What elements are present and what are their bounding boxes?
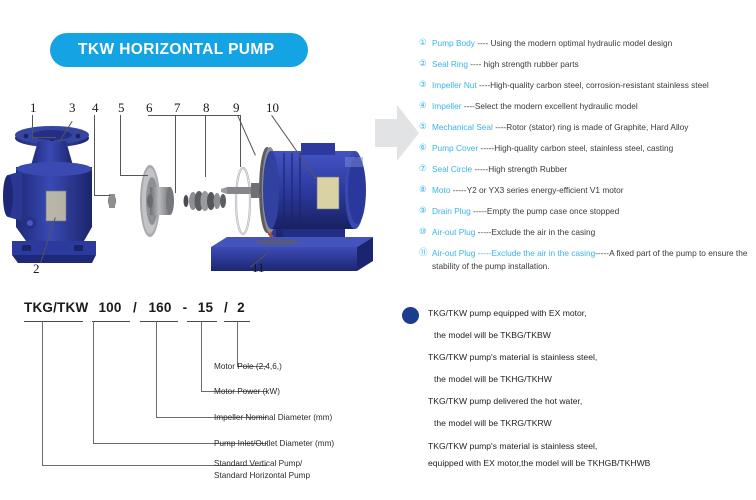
legend-part-desc: -----High-quality carbon steel, stainles…	[478, 143, 673, 153]
code-segment-series: TKG/TKW	[24, 300, 92, 315]
legend-number: ②	[419, 54, 432, 75]
legend-part-name: Moto	[432, 185, 450, 195]
pump-spec-sheet: TKW HORIZONTAL PUMP	[0, 0, 756, 500]
legend-part-name: Seal Ring	[432, 59, 468, 69]
legend-number: ④	[419, 96, 432, 117]
legend-number: ③	[419, 75, 432, 96]
page-title-banner: TKW HORIZONTAL PUMP	[50, 33, 308, 67]
note-line: TKG/TKW pump's material is stainless ste…	[400, 434, 756, 453]
callout-number-6: 6	[146, 100, 153, 116]
legend-part-name: Seal Circle	[432, 164, 472, 174]
naming-label-standard-vertical: Standard Vertical Pump/	[214, 458, 302, 470]
note-line: the model will be TKBG/TKBW	[400, 324, 756, 346]
code-segment-power: 15	[192, 300, 219, 315]
legend-item: ⑤ Mechanical Seal ----Rotor (stator) rin…	[419, 117, 754, 138]
callout-number-10: 10	[266, 100, 279, 116]
legend-part-name: Mechanical Seal	[432, 122, 493, 132]
callout-number-8: 8	[203, 100, 210, 116]
naming-label-standard-horizontal: Standard Horizontal Pump	[214, 470, 310, 482]
naming-leader-impeller-v	[156, 321, 157, 417]
code-separator-3: /	[219, 300, 233, 315]
callout-number-2: 2	[33, 261, 40, 277]
leader-line-7	[205, 115, 206, 177]
naming-label-motor-power: Motor Power (kW)	[214, 386, 280, 398]
code-underline-series	[24, 321, 83, 322]
callout-number-9: 9	[233, 100, 240, 116]
legend-number: ⑩	[419, 222, 432, 243]
page-title: TKW HORIZONTAL PUMP	[50, 41, 274, 59]
legend-item: ⑦ Seal Circle -----High strength Rubber	[419, 159, 754, 180]
code-segment-inlet: 100	[92, 300, 128, 315]
naming-leader-standard-v	[42, 321, 43, 465]
naming-leader-inlet-v	[93, 321, 94, 443]
legend-part-name: Air-out Plug -----Exclude the air in the…	[432, 248, 595, 258]
legend-item: ④ Impeller ----Select the modern excelle…	[419, 96, 754, 117]
note-line: TKG/TKW pump equipped with EX motor,	[400, 302, 756, 324]
code-segment-impeller: 160	[142, 300, 178, 315]
leader-line-5	[120, 115, 121, 175]
legend-number: ⑥	[419, 138, 432, 159]
leader-line-1	[32, 115, 33, 137]
note-line: equipped with EX motor,the model will be…	[400, 453, 756, 470]
legend-part-desc: ---- Using the modern optimal hydraulic …	[475, 38, 672, 48]
callout-number-1: 1	[30, 100, 37, 116]
code-segment-pole: 2	[233, 300, 249, 315]
code-underline-inlet	[92, 321, 130, 322]
model-variant-notes: TKG/TKW pump equipped with EX motor, the…	[400, 302, 756, 470]
arrow-right-icon	[375, 103, 419, 163]
exploded-pump-diagram: 1 3 4 5 6 7 8 9 10 2	[0, 95, 400, 290]
legend-item: ③ Impeller Nut ----High-quality carbon s…	[419, 75, 754, 96]
legend-item: ⑩ Air-out Plug -----Exclude the air in t…	[419, 222, 754, 243]
legend-number: ⑦	[419, 159, 432, 180]
code-separator-1: /	[128, 300, 142, 315]
legend-number: ①	[419, 33, 432, 54]
model-naming-diagram: TKG/TKW100/160-15/2 Motor Pole (2,4,6,) …	[0, 295, 400, 500]
legend-part-desc: ----Select the modern excellent hydrauli…	[462, 101, 638, 111]
legend-part-name: Air-out Plug	[432, 227, 475, 237]
legend-part-name: Impeller Nut	[432, 80, 477, 90]
legend-item: ⑧ Moto -----Y2 or YX3 series energy-effi…	[419, 180, 754, 201]
legend-part-name: Pump Body	[432, 38, 475, 48]
naming-label-inlet-diameter: Pump Inlet/Outlet Diameter (mm)	[214, 438, 334, 450]
legend-part-desc: -----Empty the pump case once stopped	[471, 206, 620, 216]
parts-legend: ① Pump Body ---- Using the modern optima…	[419, 33, 754, 279]
code-underline-impeller	[140, 321, 178, 322]
legend-number: ⑪	[419, 247, 432, 260]
leader-line-1b	[32, 137, 56, 138]
legend-item: ⑪ Air-out Plug -----Exclude the air in t…	[419, 243, 754, 279]
code-underline-power	[187, 321, 217, 322]
legend-part-desc: ----Rotor (stator) ring is made of Graph…	[493, 122, 689, 132]
legend-item: ② Seal Ring ---- high strength rubber pa…	[419, 54, 754, 75]
legend-number: ⑨	[419, 201, 432, 222]
callout-number-7: 7	[174, 100, 181, 116]
leader-line-5b	[120, 175, 148, 176]
legend-number: ⑤	[419, 117, 432, 138]
leader-line-6b	[148, 115, 175, 116]
motor-artwork	[205, 95, 395, 290]
naming-leader-pole-v	[237, 321, 238, 366]
leader-line-6	[175, 115, 176, 193]
note-line: TKG/TKW pump's material is stainless ste…	[400, 346, 756, 368]
naming-label-impeller-diameter: Impeller Nominal Diameter (mm)	[214, 412, 332, 424]
leader-line-4b	[94, 195, 110, 196]
callout-number-3: 3	[69, 100, 76, 116]
legend-part-desc: ----High-quality carbon steel, corrosion…	[477, 80, 709, 90]
leader-line-4	[94, 115, 95, 195]
flow-arrow	[375, 103, 419, 168]
bullet-icon	[402, 307, 419, 324]
callout-number-4: 4	[92, 100, 99, 116]
legend-part-desc: ---- high strength rubber parts	[468, 59, 579, 69]
legend-part-name: Impeller	[432, 101, 462, 111]
legend-part-name: Drain Plug	[432, 206, 471, 216]
legend-number: ⑧	[419, 180, 432, 201]
legend-part-name: Pump Cover	[432, 143, 478, 153]
legend-part-desc: -----Y2 or YX3 series energy-efficient V…	[450, 185, 623, 195]
note-line: TKG/TKW pump delivered the hot water,	[400, 390, 756, 412]
leader-line-7b	[176, 115, 205, 116]
legend-item: ① Pump Body ---- Using the modern optima…	[419, 33, 754, 54]
legend-part-desc: -----High strength Rubber	[472, 164, 567, 174]
legend-item: ⑨ Drain Plug -----Empty the pump case on…	[419, 201, 754, 222]
legend-part-desc: -----Exclude the air in the casing	[475, 227, 595, 237]
callout-number-5: 5	[118, 100, 125, 116]
naming-leader-power-v	[201, 321, 202, 391]
code-separator-2: -	[178, 300, 192, 315]
note-line: the model will be TKHG/TKHW	[400, 368, 756, 390]
model-code: TKG/TKW100/160-15/2	[24, 300, 249, 315]
naming-label-motor-pole: Motor Pole (2,4,6,)	[214, 361, 282, 373]
legend-item: ⑥ Pump Cover -----High-quality carbon st…	[419, 138, 754, 159]
note-line: the model will be TKRG/TKRW	[400, 412, 756, 434]
